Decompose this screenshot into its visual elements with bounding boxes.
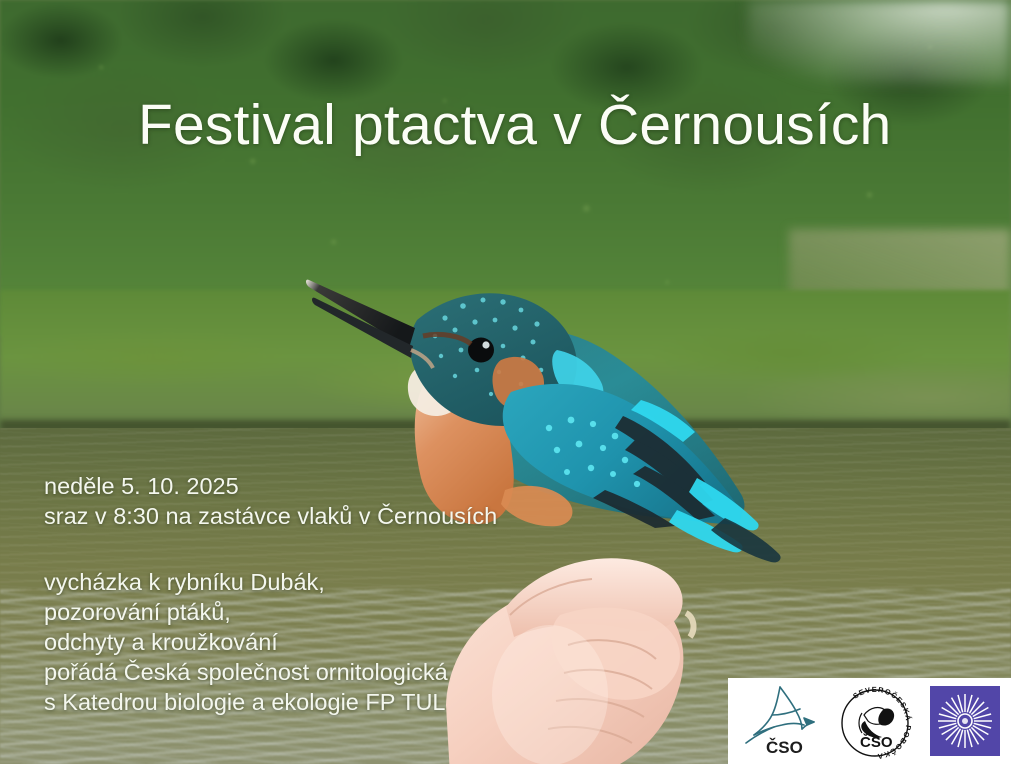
seal-caption: ČSO: [860, 733, 893, 751]
programme-line-1: vycházka k rybníku Dubák,: [44, 567, 448, 597]
event-meeting-point: sraz v 8:30 na zastávce vlaků v Černousí…: [44, 501, 497, 531]
cso-logo-caption: ČSO: [766, 738, 803, 757]
sky-layer: [748, 0, 1011, 84]
partner-line: s Katedrou biologie a ekologie FP TUL: [44, 687, 448, 717]
cso-bird-logo: ČSO: [734, 681, 830, 761]
programme-line-3: odchyty a kroužkování: [44, 627, 448, 657]
logo-panel: ČSO SEVEROČESKÁ POBOČKA Č: [728, 678, 1011, 764]
tul-starburst-logo: [930, 686, 1000, 756]
event-date: neděle 5. 10. 2025: [44, 471, 497, 501]
event-programme-block: vycházka k rybníku Dubák, pozorování ptá…: [44, 567, 448, 717]
severoceska-pobocka-cso-seal: SEVEROČESKÁ POBOČKA ČSO: [832, 681, 918, 761]
organiser-line: pořádá Česká společnost ornitologická: [44, 657, 448, 687]
event-when-block: neděle 5. 10. 2025 sraz v 8:30 na zastáv…: [44, 471, 497, 531]
page-title: Festival ptactva v Černousích: [138, 92, 891, 158]
programme-line-2: pozorování ptáků,: [44, 597, 448, 627]
poster-canvas: Festival ptactva v Černousích neděle 5. …: [0, 0, 1011, 764]
